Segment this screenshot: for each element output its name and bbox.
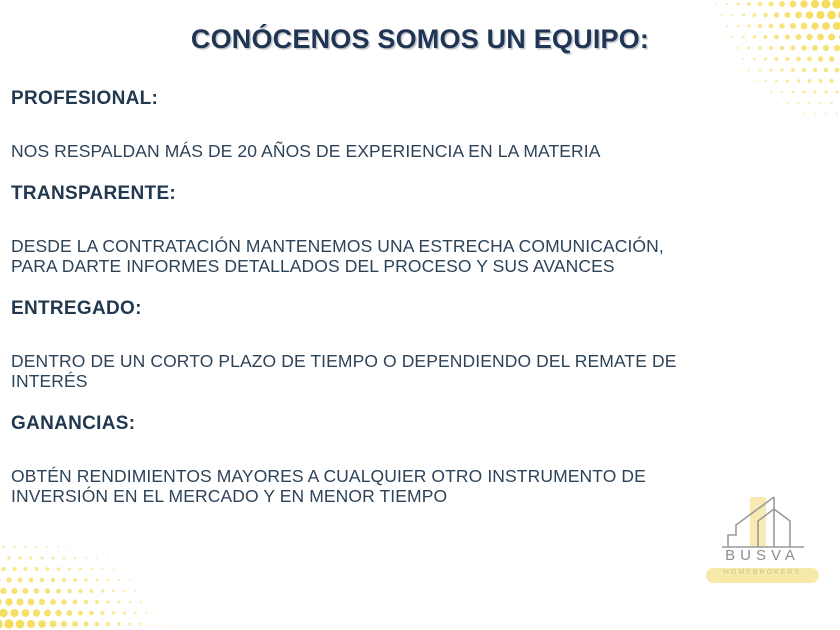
section-body: DENTRO DE UN CORTO PLAZO DE TIEMPO O DEP… xyxy=(11,351,826,392)
halftone-dots-bottom-left-icon xyxy=(0,510,200,630)
section-entregado: ENTREGADO: DENTRO DE UN CORTO PLAZO DE T… xyxy=(11,298,826,392)
brand-logo: BUSVA HOMEBROKERS xyxy=(700,495,825,587)
spacer xyxy=(11,435,826,466)
slide-canvas: CONÓCENOS SOMOS UN EQUIPO: PROFESIONAL: … xyxy=(0,0,840,630)
logo-tagline: HOMEBROKERS xyxy=(700,569,825,576)
section-ganancias: GANANCIAS: OBTÉN RENDIMIENTOS MAYORES A … xyxy=(11,413,826,507)
spacer xyxy=(11,205,826,236)
section-heading: ENTREGADO: xyxy=(11,298,826,320)
busva-house-logo-icon xyxy=(700,495,825,551)
section-heading: TRANSPARENTE: xyxy=(11,183,826,205)
section-transparente: TRANSPARENTE: DESDE LA CONTRATACIÓN MANT… xyxy=(11,183,826,277)
spacer xyxy=(11,320,826,351)
section-heading: GANANCIAS: xyxy=(11,413,826,435)
spacer xyxy=(11,110,826,141)
section-profesional: PROFESIONAL: NOS RESPALDAN MÁS DE 20 AÑO… xyxy=(11,88,826,161)
section-body: NOS RESPALDAN MÁS DE 20 AÑOS DE EXPERIEN… xyxy=(11,141,826,161)
logo-wordmark: BUSVA xyxy=(700,547,825,564)
section-body: DESDE LA CONTRATACIÓN MANTENEMOS UNA EST… xyxy=(11,236,826,277)
page-title: CONÓCENOS SOMOS UN EQUIPO: xyxy=(0,24,840,55)
section-heading: PROFESIONAL: xyxy=(11,88,826,110)
